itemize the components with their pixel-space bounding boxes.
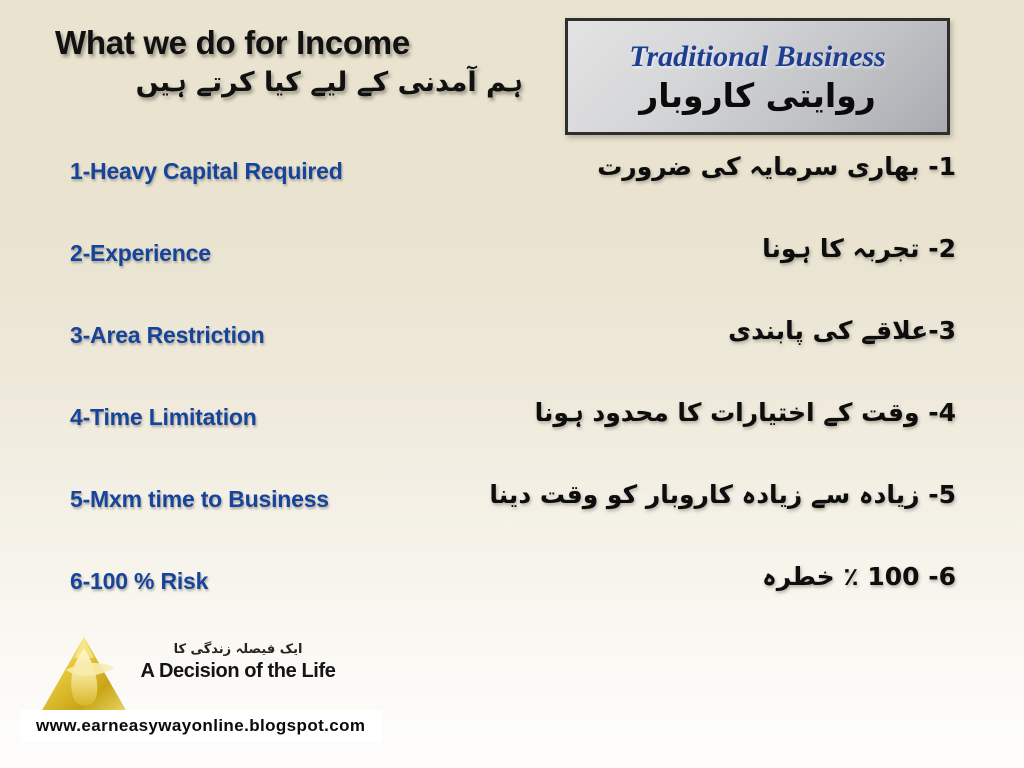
list-item-urdu: 6- 100 ٪ خطرہ: [762, 562, 956, 591]
list-item-english: 1-Heavy Capital Required: [70, 158, 343, 185]
brand-logo: ایک فیصلہ زندگی کا A Decision of the Lif…: [38, 634, 338, 720]
list-item: 6-100 % Risk 6- 100 ٪ خطرہ: [0, 562, 1024, 644]
list-item: 1-Heavy Capital Required 1- بھاری سرمایہ…: [0, 152, 1024, 234]
list-item-english: 3-Area Restriction: [70, 322, 265, 349]
points-list: 1-Heavy Capital Required 1- بھاری سرمایہ…: [0, 152, 1024, 644]
title-box-urdu: روایتی کاروبار: [639, 76, 875, 115]
list-item: 2-Experience 2- تجربہ کا ہونا: [0, 234, 1024, 316]
page-title-urdu: ہم آمدنی کے لیے کیا کرتے ہیں: [55, 67, 525, 98]
list-item-english: 5-Mxm time to Business: [70, 486, 329, 513]
traditional-business-title-box: Traditional Business روایتی کاروبار: [565, 18, 950, 135]
title-box-english: Traditional Business: [629, 40, 885, 74]
list-item-urdu: 3-علاقے کی پابندی: [728, 316, 956, 345]
brand-tagline-english: A Decision of the Life: [138, 660, 338, 683]
list-item-urdu: 1- بھاری سرمایہ کی ضرورت: [597, 152, 956, 181]
website-url-bar: www.earneasywayonline.blogspot.com: [20, 710, 382, 742]
list-item: 5-Mxm time to Business 5- زیادہ سے زیادہ…: [0, 480, 1024, 562]
brand-logo-text: ایک فیصلہ زندگی کا A Decision of the Lif…: [138, 642, 338, 683]
triangle-logo-icon: [38, 634, 130, 716]
page-title: What we do for Income ہم آمدنی کے لیے کی…: [55, 26, 525, 98]
brand-tagline-urdu: ایک فیصلہ زندگی کا: [138, 642, 338, 657]
list-item-urdu: 4- وقت کے اختیارات کا محدود ہونا: [535, 398, 956, 427]
list-item-english: 4-Time Limitation: [70, 404, 257, 431]
slide-canvas: What we do for Income ہم آمدنی کے لیے کی…: [0, 0, 1024, 768]
list-item-urdu: 2- تجربہ کا ہونا: [762, 234, 956, 263]
page-title-english: What we do for Income: [55, 26, 525, 61]
list-item-urdu: 5- زیادہ سے زیادہ کاروبار کو وقت دینا: [489, 480, 956, 509]
website-url: www.earneasywayonline.blogspot.com: [20, 716, 365, 736]
list-item: 3-Area Restriction 3-علاقے کی پابندی: [0, 316, 1024, 398]
list-item-english: 6-100 % Risk: [70, 568, 208, 595]
list-item: 4-Time Limitation 4- وقت کے اختیارات کا …: [0, 398, 1024, 480]
list-item-english: 2-Experience: [70, 240, 211, 267]
